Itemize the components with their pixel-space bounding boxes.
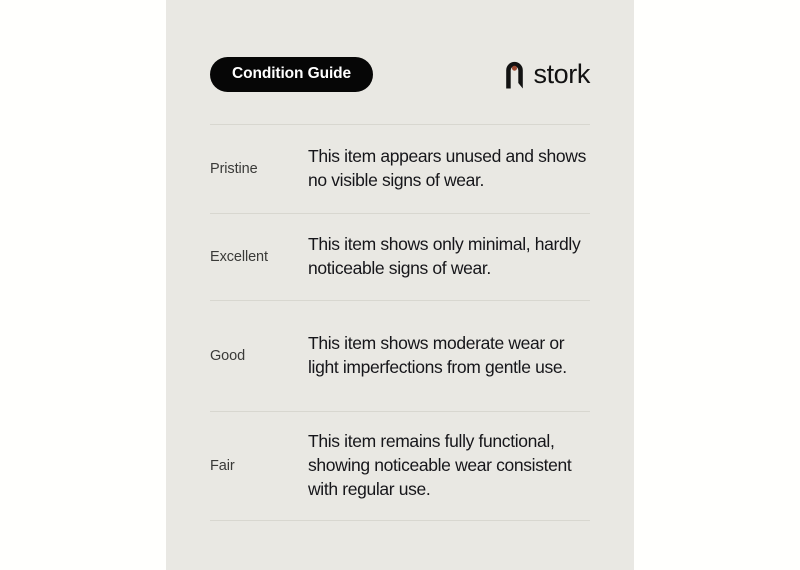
table-row: Good This item shows moderate wear or li… (210, 301, 590, 411)
condition-description: This item shows moderate wear or light i… (308, 332, 590, 380)
table-row: Pristine This item appears unused and sh… (210, 125, 590, 213)
table-row: Excellent This item shows only minimal, … (210, 214, 590, 300)
condition-label: Fair (210, 457, 308, 476)
condition-label: Excellent (210, 248, 308, 267)
condition-guide-badge[interactable]: Condition Guide (210, 57, 373, 92)
condition-description: This item appears unused and shows no vi… (308, 145, 590, 193)
page-root: Condition Guide stork Pristine This item… (0, 0, 800, 570)
brand-logo: stork (503, 59, 590, 89)
table-row: Fair This item remains fully functional,… (210, 412, 590, 520)
condition-guide-table: Pristine This item appears unused and sh… (210, 124, 590, 521)
stork-arch-mark-icon (503, 59, 526, 89)
condition-guide-card: Condition Guide stork Pristine This item… (166, 0, 634, 570)
condition-label: Pristine (210, 160, 308, 179)
condition-description: This item remains fully functional, show… (308, 430, 590, 502)
condition-label: Good (210, 347, 308, 366)
table-divider-bottom (210, 520, 590, 521)
card-header: Condition Guide stork (210, 56, 590, 92)
condition-description: This item shows only minimal, hardly not… (308, 233, 590, 281)
brand-wordmark: stork (533, 61, 590, 88)
